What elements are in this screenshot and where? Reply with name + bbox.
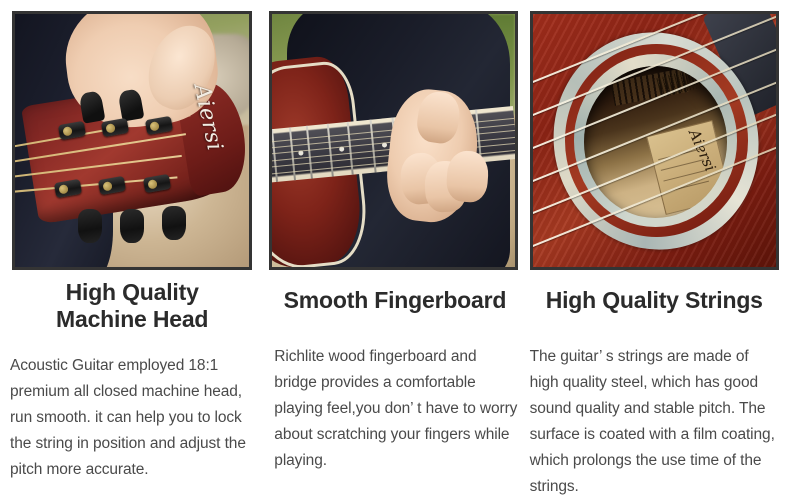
tuner-knob <box>120 209 144 243</box>
guitar-headstock-photo: Aiersi <box>12 11 252 270</box>
guitar-fingerboard-photo <box>269 11 518 270</box>
interior-brand-label: Aiersi <box>646 120 727 215</box>
tuner-knob <box>78 209 102 243</box>
feature-title-line1: High Quality <box>66 279 199 305</box>
feature-title-line2: Machine Head <box>56 306 208 332</box>
feature-title-machine-head: High Quality Machine Head <box>12 279 252 333</box>
tuner-knob <box>162 206 186 240</box>
guitar-soundhole-strings-photo: Aiersi <box>530 11 779 270</box>
feature-description-fingerboard: Richlite wood fingerboard and bridge pro… <box>274 344 520 474</box>
feature-title-fingerboard: Smooth Fingerboard <box>269 287 520 314</box>
feature-grid: Aiersi High Quality Machine Head Acousti… <box>0 0 790 481</box>
feature-title-strings: High Quality Strings <box>530 287 779 314</box>
feature-description-strings: The guitar’ s strings are made of high q… <box>530 344 779 500</box>
feature-column-strings: Aiersi High Quality Strings The guitar’ … <box>527 0 790 481</box>
feature-description-machine-head: Acoustic Guitar employed 18:1 premium al… <box>10 353 252 483</box>
fret <box>272 129 277 182</box>
feature-column-machine-head: Aiersi High Quality Machine Head Acousti… <box>0 0 263 481</box>
feature-column-fingerboard: Smooth Fingerboard Richlite wood fingerb… <box>263 0 526 481</box>
